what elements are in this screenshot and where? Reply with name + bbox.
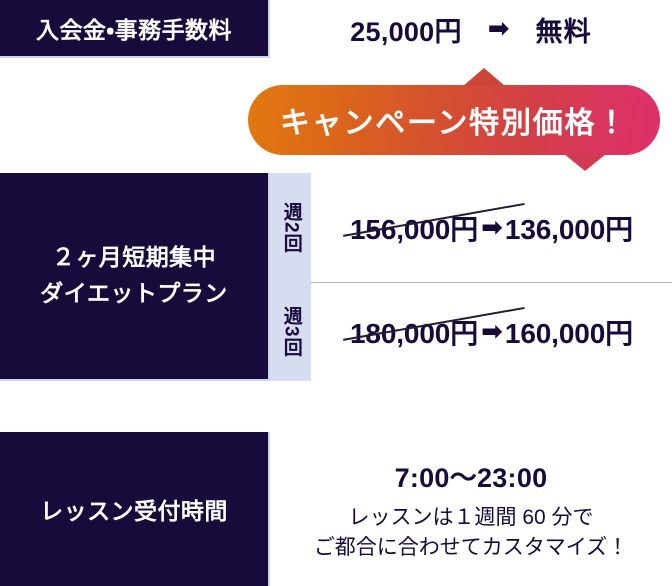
plan-frequency-3-per-week-text: 週3回: [279, 306, 301, 357]
right-arrow-icon: ➡: [478, 316, 505, 347]
plan-frequency-2-per-week: 週2回: [270, 173, 311, 283]
enrollment-fee-label: 入会金・事務手数料: [0, 0, 270, 58]
plan-frequency-3-per-week: 週3回: [270, 283, 311, 381]
diet-plan-label-line-2: ダイエットプラン: [40, 276, 227, 312]
lesson-hours-note-line-1: レッスンは１週間 60 分で: [314, 503, 628, 533]
banner-label-text: キャンペーン特別価格！: [248, 85, 660, 155]
enrollment-old-price: 25,000円: [350, 10, 461, 49]
plan-price-row-2-per-week: 156,000円 ➡ 136,000円: [311, 173, 672, 283]
lesson-hours-label: レッスン受付時間: [0, 432, 270, 586]
enrollment-fee-label-text: 入会金・事務手数料: [36, 11, 232, 45]
right-arrow-icon: ➡: [488, 15, 510, 41]
enrollment-fee-values: 25,000円 ➡ 無料: [270, 0, 672, 58]
enrollment-new-price: 無料: [536, 10, 592, 49]
banner-top-notch-icon: [463, 68, 505, 86]
plan-frequency-2-per-week-text: 週2回: [279, 202, 301, 253]
plan-old-price-2-per-week: 156,000円: [350, 208, 478, 248]
plan-price-inner-1: 156,000円 ➡ 136,000円: [350, 208, 633, 248]
lesson-hours-range: 7:00〜23:00: [395, 456, 548, 495]
right-arrow-icon: ➡: [478, 212, 505, 243]
campaign-banner: キャンペーン特別価格！: [248, 68, 672, 170]
banner-bottom-notch-icon: [564, 154, 606, 171]
lesson-hours-values: 7:00〜23:00 レッスンは１週間 60 分で ご都合に合わせてカスタマイズ…: [270, 432, 672, 586]
lesson-hours-label-text: レッスン受付時間: [40, 492, 228, 526]
lesson-hours-note: レッスンは１週間 60 分で ご都合に合わせてカスタマイズ！: [314, 503, 628, 563]
plan-old-price-3-per-week: 180,000円: [350, 312, 478, 352]
plan-price-row-3-per-week: 180,000円 ➡ 160,000円: [311, 283, 672, 381]
diet-plan-label: ２ヶ月短期集中 ダイエットプラン: [0, 173, 270, 381]
plan-new-price-3-per-week: 160,000円: [505, 312, 633, 352]
lesson-hours-note-line-2: ご都合に合わせてカスタマイズ！: [314, 533, 628, 563]
diet-plan-label-line-1: ２ヶ月短期集中: [52, 240, 216, 276]
plan-new-price-2-per-week: 136,000円: [505, 208, 633, 248]
plan-price-inner-2: 180,000円 ➡ 160,000円: [350, 312, 633, 352]
